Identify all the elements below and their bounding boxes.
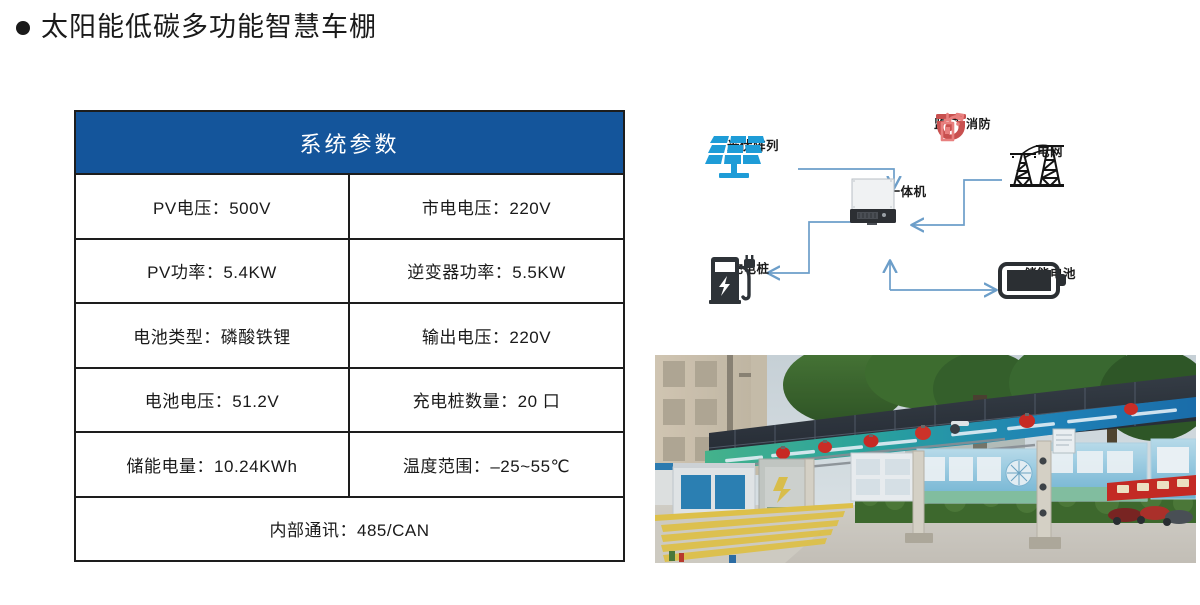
inverter-cabinet-icon	[846, 178, 900, 226]
page-title: 太阳能低碳多功能智慧车棚	[16, 14, 377, 41]
diagram-node-fire-safety: 消防	[966, 112, 991, 132]
table-cell-internal-comm: 内部通讯：485/CAN	[76, 498, 623, 561]
table-cell-battery-voltage: 电池电压：51.2V	[76, 369, 350, 432]
table-row: 电池电压：51.2V 充电桩数量：20 口	[76, 369, 623, 434]
table-row: 储能电量：10.24KWh 温度范围：–25~55℃	[76, 433, 623, 498]
solar-panel-icon	[705, 132, 775, 180]
table-cell-storage-capacity: 储能电量：10.24KWh	[76, 433, 350, 496]
table-cell-pv-voltage: PV电压：500V	[76, 175, 350, 238]
carport-photo-scene	[655, 355, 1196, 563]
slide-page: 太阳能低碳多功能智慧车棚 系统参数 PV电压：500V 市电电压：220V PV…	[0, 0, 1200, 605]
battery-icon	[998, 260, 1070, 302]
table-cell-battery-type: 电池类型：磷酸铁锂	[76, 304, 350, 367]
table-row: 内部通讯：485/CAN	[76, 498, 623, 561]
table-header: 系统参数	[76, 112, 623, 175]
power-tower-icon	[1002, 138, 1068, 190]
diagram-node-solar-array: 光伏阵列	[705, 132, 801, 154]
table-cell-grid-voltage: 市电电压：220V	[350, 175, 623, 238]
table-cell-pv-power: PV功率：5.4KW	[76, 240, 350, 303]
table-row: PV电压：500V 市电电压：220V	[76, 175, 623, 240]
system-architecture-diagram: 光伏阵列 光储一体机	[650, 100, 1150, 350]
diagram-node-label: 消防	[966, 115, 991, 132]
table-cell-inverter-power: 逆变器功率：5.5KW	[350, 240, 623, 303]
table-cell-charger-count: 充电桩数量：20 口	[350, 369, 623, 432]
diagram-node-inverter: 光储一体机	[846, 178, 942, 200]
charging-pile-icon	[702, 255, 762, 305]
table-row: 电池类型：磷酸铁锂 输出电压：220V	[76, 304, 623, 369]
table-row: PV功率：5.4KW 逆变器功率：5.5KW	[76, 240, 623, 305]
fire-extinguisher-icon	[934, 112, 966, 142]
filled-circle-bullet-icon	[16, 21, 30, 35]
diagram-node-safety-group: 监控 消防	[934, 112, 1038, 132]
table-cell-output-voltage: 输出电压：220V	[350, 304, 623, 367]
diagram-node-storage-battery: 储能电池	[998, 260, 1102, 282]
table-body: PV电压：500V 市电电压：220V PV功率：5.4KW 逆变器功率：5.5…	[76, 175, 623, 560]
carport-photo	[655, 355, 1196, 563]
system-parameters-table: 系统参数 PV电压：500V 市电电压：220V PV功率：5.4KW 逆变器功…	[74, 110, 625, 562]
table-cell-temp-range: 温度范围：–25~55℃	[350, 433, 623, 496]
diagram-node-power-grid: 电网	[1002, 138, 1098, 160]
diagram-node-charging-pile: 充电桩	[702, 255, 798, 277]
page-title-text: 太阳能低碳多功能智慧车棚	[41, 14, 377, 41]
